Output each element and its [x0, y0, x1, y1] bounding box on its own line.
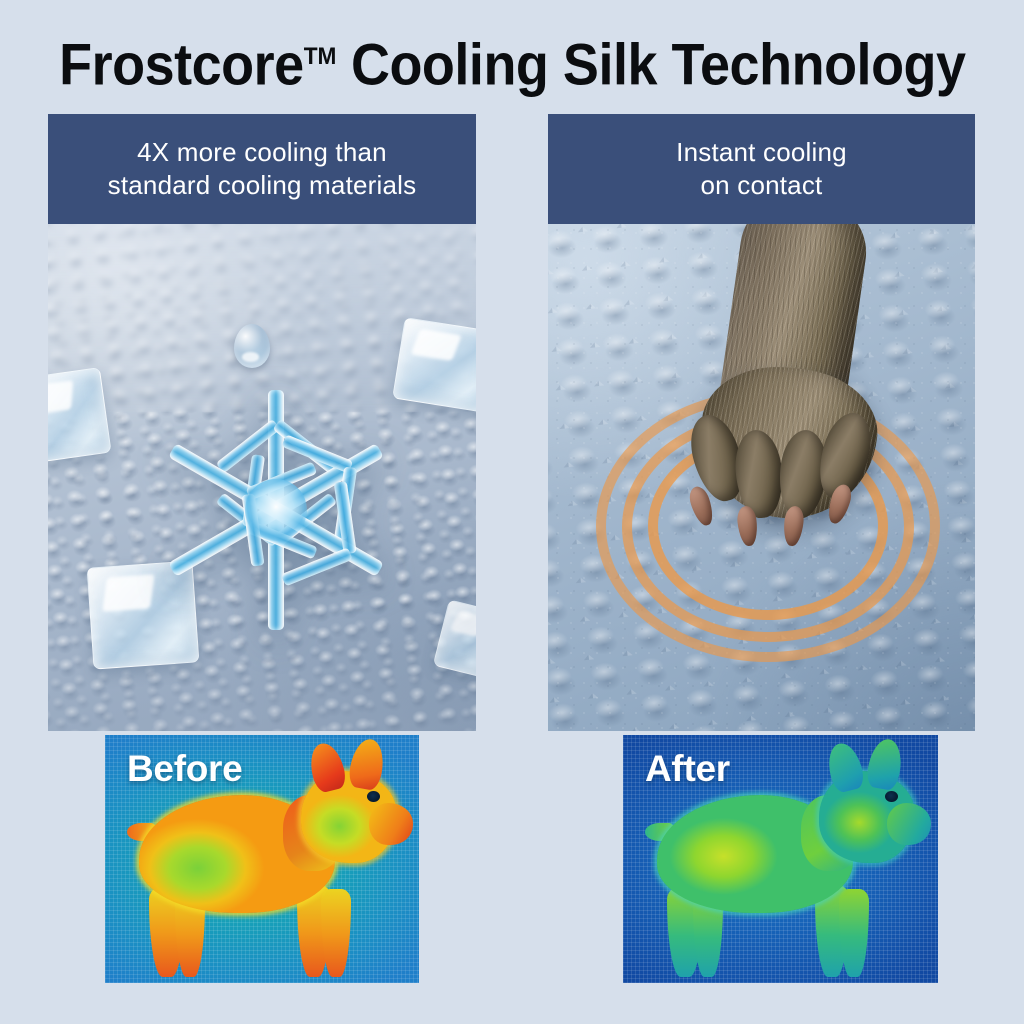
snowflake-center-glow: [245, 479, 307, 541]
feature-panel-instant-cooling: Instant cooling on contact: [548, 114, 975, 731]
thermal-image-before: Before: [105, 735, 419, 983]
thermal-label-after: After: [645, 749, 730, 789]
panel-header-cooling-multiplier: 4X more cooling than standard cooling ma…: [48, 114, 476, 224]
page-title-suffix: Cooling Silk Technology: [336, 32, 965, 97]
brand-name: Frostcore: [59, 32, 304, 97]
dog-eye: [367, 791, 380, 802]
ice-cube-icon: [392, 317, 476, 413]
panel-header-text: Instant cooling on contact: [664, 136, 859, 202]
feature-panel-cooling-multiplier: 4X more cooling than standard cooling ma…: [48, 114, 476, 731]
page-title: FrostcoreTM Cooling Silk Technology: [0, 26, 1024, 96]
page-title-text: FrostcoreTM Cooling Silk Technology: [59, 26, 965, 96]
thermal-label-before: Before: [127, 749, 242, 789]
dog-muzzle: [887, 803, 931, 845]
dog-eye: [885, 791, 898, 802]
panel-header-instant-cooling: Instant cooling on contact: [548, 114, 975, 224]
cooling-fabric-photo: [48, 224, 476, 731]
panel-header-text: 4X more cooling than standard cooling ma…: [96, 136, 429, 202]
dog-leg: [839, 889, 869, 977]
dog-paw-icon: [678, 224, 888, 548]
snowflake-icon: [150, 384, 402, 636]
dog-muzzle: [369, 803, 413, 845]
trademark-symbol: TM: [303, 43, 336, 70]
snowflake-branch: [281, 434, 353, 473]
water-droplet-icon: [234, 324, 270, 368]
snowflake-branch: [281, 547, 353, 586]
paw-contact-photo: [548, 224, 975, 731]
dog-leg: [321, 889, 351, 977]
thermal-image-after: After: [623, 735, 938, 983]
